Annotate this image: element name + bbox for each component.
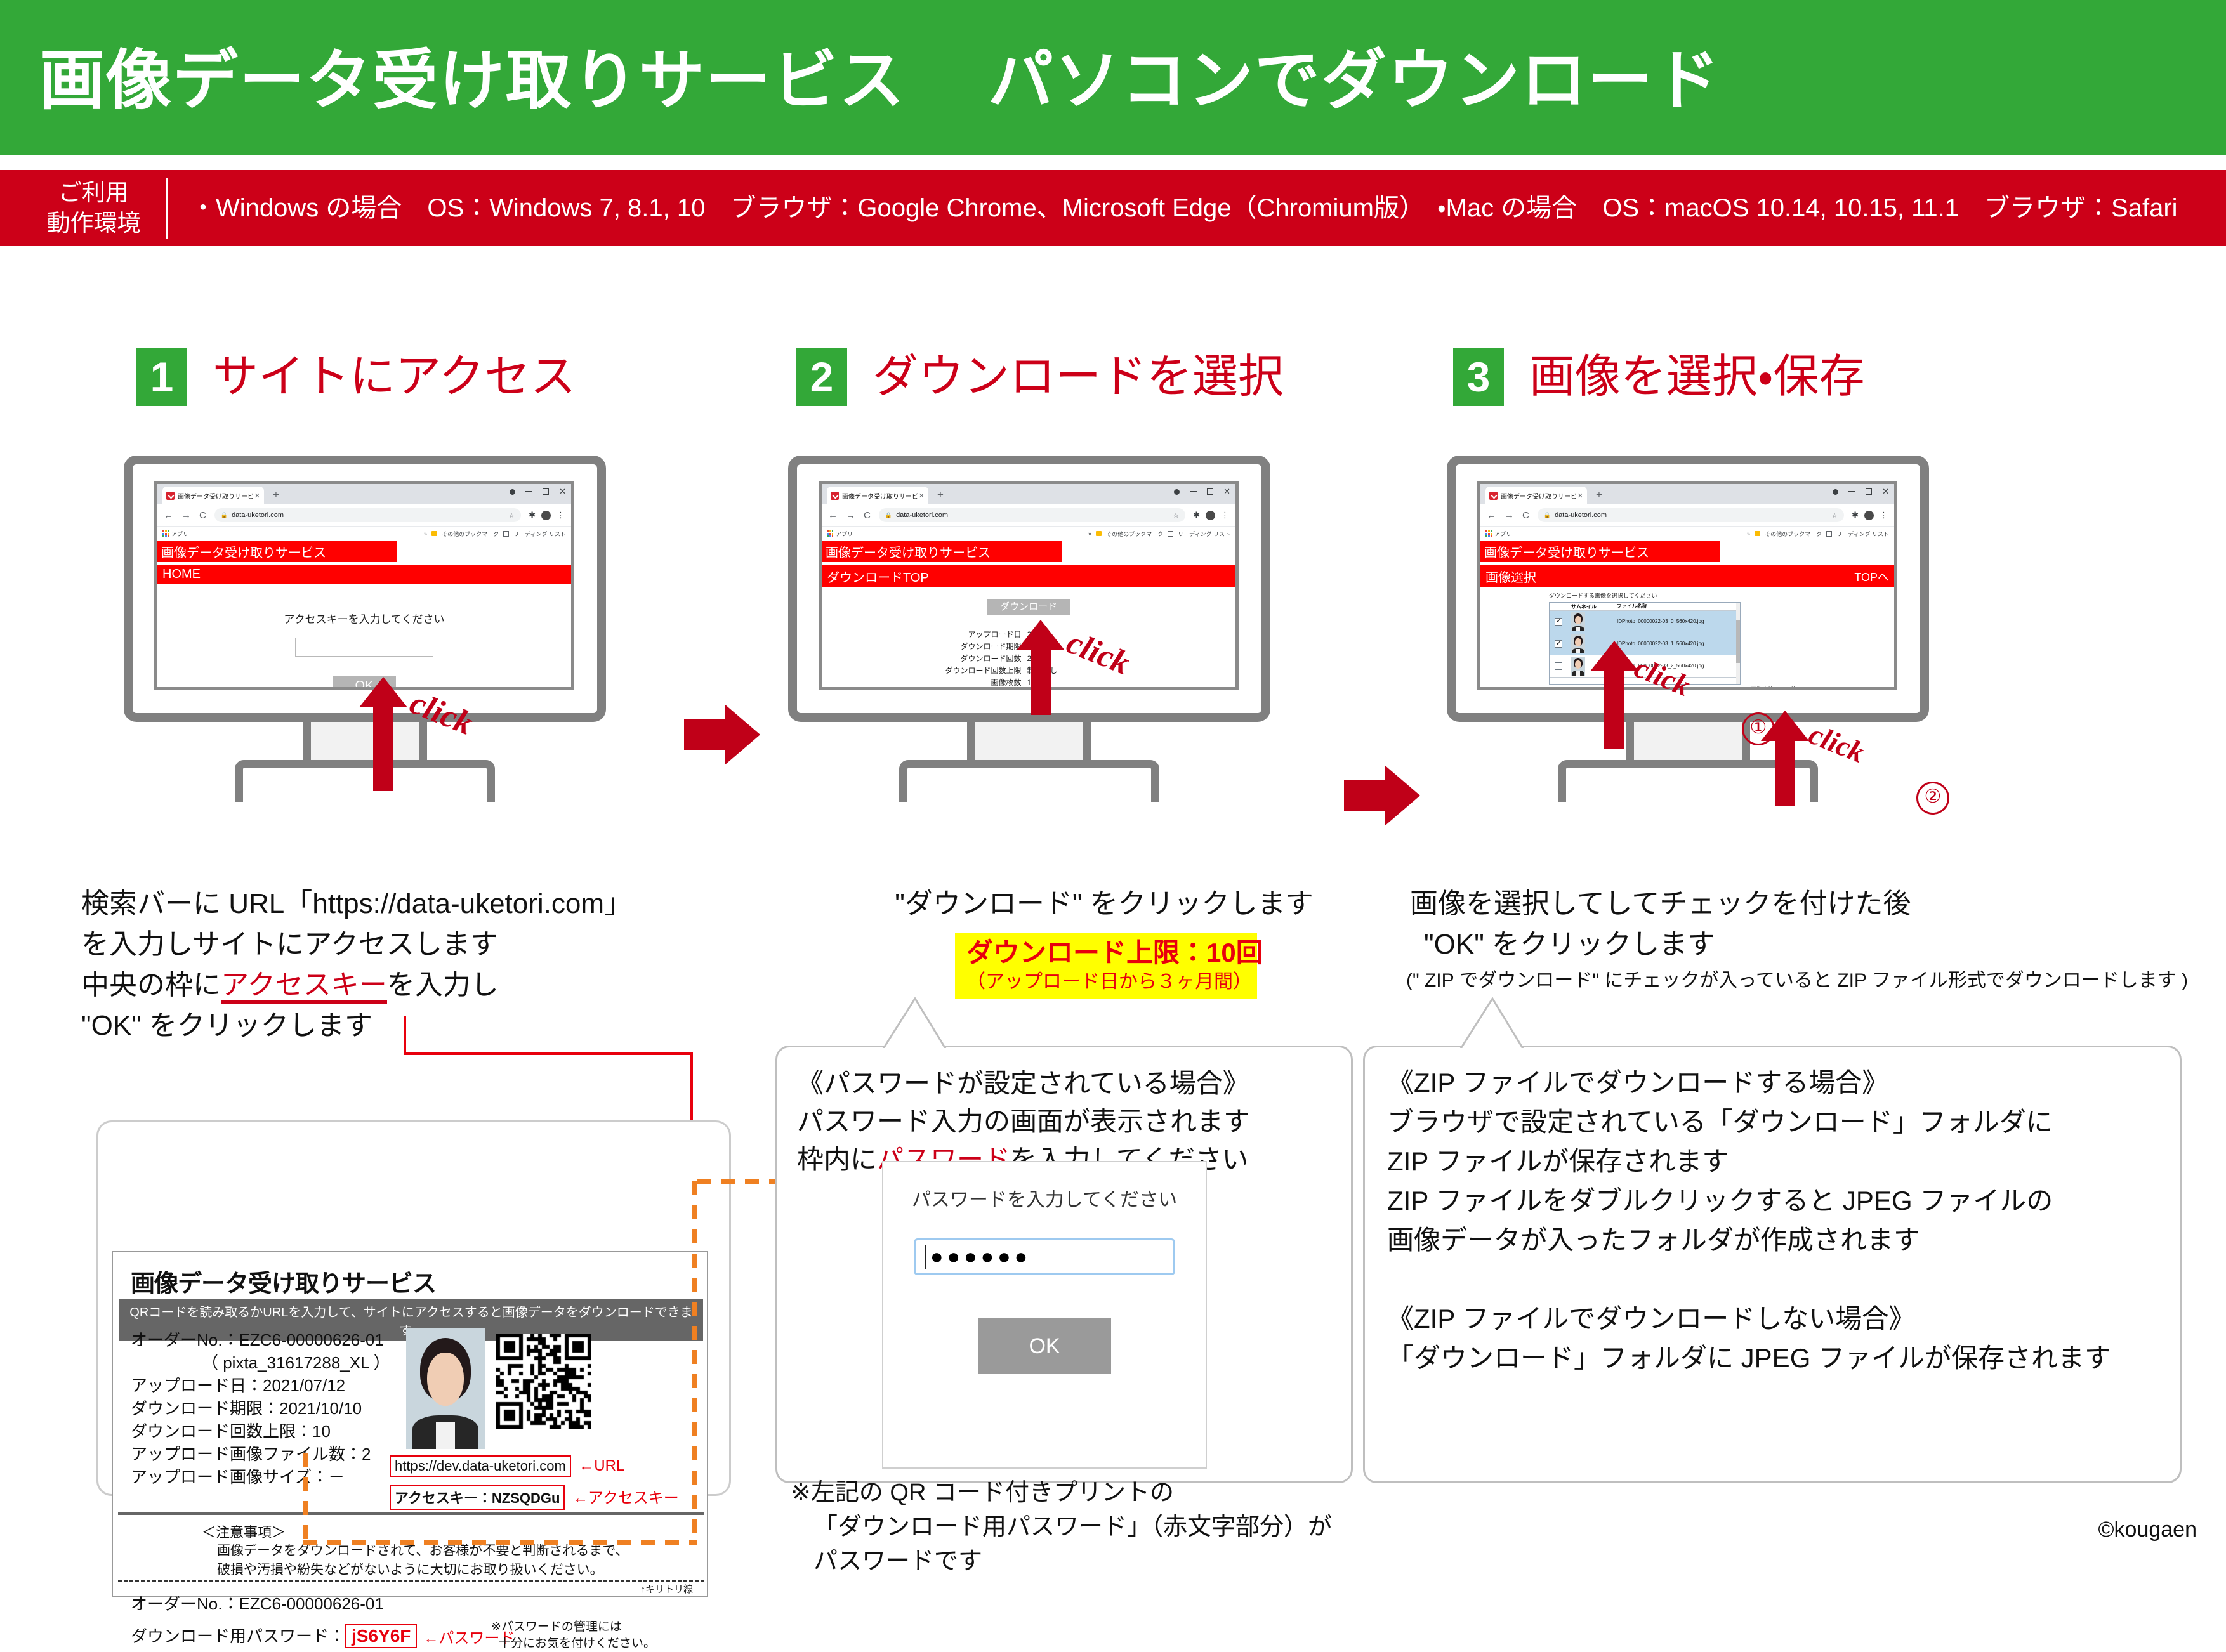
print-card-notice-line-2: 破損や汚損や紛失などがないように大切にお取り扱いください。: [202, 1561, 628, 1580]
info-label: ダウンロード期限: [945, 640, 1026, 652]
lock-icon: 🔒: [221, 512, 228, 519]
profile-dot-icon: [1174, 489, 1180, 495]
step-2-badge: 2: [796, 348, 847, 406]
download-limit-line-2: （アップロード日から３ヶ月間）: [966, 969, 1246, 995]
other-bookmarks-label[interactable]: その他のブックマーク: [1765, 530, 1822, 538]
download-favicon-icon: [166, 492, 175, 500]
print-card-key-arrow-label: ←アクセスキー: [573, 1490, 679, 1507]
back-icon[interactable]: ←: [164, 510, 173, 521]
bookmarks-overflow-icon[interactable]: »: [1088, 530, 1091, 537]
zip-callout-line-4: ZIP ファイルをダブルクリックすると JPEG ファイルの: [1387, 1181, 2187, 1221]
folder-icon: [1096, 531, 1102, 536]
browser-tab-bar: 画像データ受け取りサービス ✕ + ✕: [822, 484, 1235, 504]
column-header-thumbnail: サムネイル: [1567, 603, 1613, 610]
reload-icon[interactable]: C: [199, 510, 206, 521]
browser-window-step1: 画像データ受け取りサービス ✕ + ✕ ← → C 🔒 data-uketori…: [154, 481, 574, 690]
site-nav-label[interactable]: 画像選択: [1485, 567, 1536, 586]
bookmark-star-icon[interactable]: ☆: [1173, 511, 1179, 520]
orange-connector-v1: [303, 1453, 308, 1545]
password-dialog: パスワードを入力してください ●●●●●● OK: [882, 1161, 1207, 1469]
maximize-icon[interactable]: [1866, 488, 1872, 495]
step-2-monitor: 画像データ受け取りサービス ✕ + ✕ ← → C 🔒 data-uketori…: [788, 456, 1270, 779]
browser-tab[interactable]: 画像データ受け取りサービス ✕: [162, 487, 264, 504]
reload-icon[interactable]: C: [864, 510, 871, 521]
step-1-caption: 検索バーに URL「https://data-uketori.com」 を入力し…: [81, 884, 767, 1046]
apps-label[interactable]: アプリ: [836, 530, 853, 538]
row-checkbox-cell[interactable]: [1550, 633, 1567, 655]
minimize-icon[interactable]: [1848, 491, 1855, 492]
password-ok-button[interactable]: OK: [978, 1318, 1111, 1374]
bookmarks-bar: アプリ » その他のブックマーク リーディング リスト: [157, 527, 571, 541]
print-card-order-no-bottom: オーダーNo.：EZC6-00000626-01: [131, 1592, 384, 1615]
table-scrollbar[interactable]: [1736, 603, 1740, 684]
sample-portrait-photo: [406, 1328, 485, 1449]
print-card-password-line: ダウンロード用パスワード： jS6Y6F ←パスワード: [131, 1624, 515, 1648]
environment-label: ご利用 動作環境: [25, 178, 162, 239]
forward-icon[interactable]: →: [1505, 510, 1514, 521]
lock-icon: 🔒: [1544, 512, 1551, 519]
row-thumbnail-cell: [1567, 611, 1613, 633]
red-connector-h1: [404, 1052, 693, 1055]
bookmarks-bar: アプリ » その他のブックマーク リーディング リスト: [1480, 527, 1894, 541]
checkbox-icon[interactable]: [1555, 640, 1562, 648]
print-card-password-note-1: ※パスワードの管理には: [491, 1619, 655, 1636]
address-bar[interactable]: 🔒 data-uketori.com ☆: [1538, 508, 1844, 522]
minimize-icon[interactable]: [525, 491, 532, 492]
environment-label-line1: ご利用: [25, 178, 162, 208]
step-3-caption-note: (" ZIP でダウンロード" にチェックが入っていると ZIP ファイル形式で…: [1406, 964, 2212, 992]
print-card-password-label: ダウンロード用パスワード：: [131, 1625, 345, 1648]
address-bar[interactable]: 🔒 data-uketori.com ☆: [879, 508, 1185, 522]
environment-text: ・Windows の場合 OS：Windows 7, 8.1, 10 ブラウザ：…: [190, 170, 2178, 246]
step-3-click-badge-2: ②: [1916, 782, 1949, 815]
step-1-badge: 1: [136, 348, 187, 406]
profile-dot-icon: [510, 489, 515, 495]
row-checkbox-cell[interactable]: [1550, 611, 1567, 633]
kebab-menu-icon[interactable]: ⋮: [1880, 512, 1888, 518]
browser-window-step3: 画像データ受け取りサービス ✕ + ✕ ← → C 🔒 data-uketori…: [1477, 481, 1897, 690]
browser-url-bar: ← → C 🔒 data-uketori.com ☆ ✱ ⋮: [822, 504, 1235, 527]
password-footnote-line-2: 「ダウンロード用パスワード」（赤文字部分）が: [791, 1510, 1362, 1544]
access-key-input[interactable]: [295, 638, 433, 657]
bookmarks-bar: アプリ » その他のブックマーク リーディング リスト: [822, 527, 1235, 541]
avatar[interactable]: [1864, 511, 1874, 520]
new-tab-button[interactable]: +: [273, 489, 279, 500]
password-callout-tail: [876, 995, 971, 1052]
download-favicon-icon: [1489, 492, 1498, 500]
table-row[interactable]: IDPhoto_00000022-03_0_560x420.jpg: [1550, 611, 1740, 633]
thumbnail-image: [1571, 612, 1585, 631]
kebab-menu-icon[interactable]: ⋮: [1221, 512, 1229, 518]
step-1-header: 1 サイトにアクセス: [136, 348, 576, 406]
site-nav-label[interactable]: HOME: [162, 567, 201, 582]
apps-label[interactable]: アプリ: [1494, 530, 1511, 538]
print-card-key-line: アクセスキー：NZSQDGu ←アクセスキー: [390, 1485, 679, 1510]
step-3-header: 3 画像を選択・保存: [1453, 348, 1864, 406]
column-header-filename: ファイル名称: [1613, 603, 1740, 610]
back-icon[interactable]: ←: [828, 510, 838, 521]
step-transition-arrow-2: [1344, 765, 1420, 826]
print-card-url-arrow-label: ←URL: [579, 1457, 624, 1474]
print-card-url: https://dev.data-uketori.com: [390, 1455, 571, 1477]
zip-callout-line-3: ZIP ファイルが保存されます: [1387, 1142, 2187, 1181]
zip-callout-line-7: 《ZIP ファイルでダウンロードしない場合》: [1387, 1299, 2187, 1339]
apps-label[interactable]: アプリ: [171, 530, 188, 538]
reload-icon[interactable]: C: [1522, 510, 1529, 521]
step-3-caption-line-2: "OK" をクリックします: [1410, 924, 2171, 965]
copyright-notice: ©kougaen: [2098, 1518, 2197, 1542]
apps-grid-icon[interactable]: [162, 530, 169, 537]
close-icon[interactable]: ✕: [919, 492, 925, 500]
bookmarks-right: » その他のブックマーク リーディング リスト: [1088, 530, 1230, 538]
password-input-value: ●●●●●●: [930, 1245, 1031, 1269]
step-3-caption: 画像を選択してしてチェックを付けた後 "OK" をクリックします: [1410, 884, 2171, 965]
stat-label: 画像枚数: [1750, 686, 1773, 690]
download-limit-badge: ダウンロード上限：10回 （アップロード日から３ヶ月間）: [955, 933, 1257, 999]
qr-code: [496, 1334, 591, 1429]
zip-callout-text: 《ZIP ファイルでダウンロードする場合》 ブラウザで設定されている「ダウンロー…: [1387, 1063, 2187, 1378]
step-transition-arrow-1: [684, 704, 760, 765]
row-filename: IDPhoto_00000022-03_0_560x420.jpg: [1613, 611, 1740, 633]
text-caret: [925, 1245, 926, 1269]
maximize-icon[interactable]: [543, 488, 549, 495]
step-1-caption-line-4: "OK" をクリックします: [81, 1006, 767, 1046]
browser-tab-title: 画像データ受け取りサービス: [1501, 491, 1577, 501]
reading-list-icon: [503, 531, 509, 537]
bookmark-star-icon[interactable]: ☆: [508, 511, 515, 520]
step-3-title: 画像を選択・保存: [1529, 348, 1864, 406]
red-connector-v1: [404, 1016, 406, 1055]
step-1-caption-line-2: を入力しサイトにアクセスします: [81, 924, 767, 965]
other-bookmarks-label[interactable]: その他のブックマーク: [442, 530, 499, 538]
print-card-info: オーダーNo.：EZC6-00000626-01 （ pixta_3161728…: [131, 1328, 390, 1488]
site-nav-step1: HOME: [157, 565, 571, 584]
zip-callout-line-8: 「ダウンロード」フォルダに JPEG ファイルが保存されます: [1387, 1339, 2187, 1378]
browser-tab[interactable]: 画像データ受け取りサービス ✕: [1485, 487, 1587, 504]
address-bar-url: data-uketori.com: [896, 511, 948, 519]
print-card-title: 画像データ受け取りサービス: [131, 1264, 436, 1299]
monitor-neck: [967, 722, 1091, 763]
minimize-icon[interactable]: [1190, 491, 1197, 492]
window-controls: ✕: [510, 487, 566, 497]
password-callout-line-1: 《パスワードが設定されている場合》: [797, 1065, 1349, 1103]
other-bookmarks-label[interactable]: その他のブックマーク: [1106, 530, 1163, 538]
kebab-menu-icon[interactable]: ⋮: [556, 512, 565, 518]
step-1-caption-line-1: 検索バーに URL「https://data-uketori.com」: [81, 884, 767, 924]
checkbox-icon[interactable]: [1555, 603, 1562, 610]
print-card-dl-limit: ダウンロード回数上限：10: [131, 1420, 390, 1443]
reading-list-label[interactable]: リーディング リスト: [513, 530, 566, 538]
info-label: ダウンロード回数: [945, 652, 1026, 664]
print-card-url-line: https://dev.data-uketori.com ←URL: [390, 1455, 624, 1477]
apps-grid-icon[interactable]: [1485, 530, 1492, 537]
site-nav-step2: ダウンロードTOP: [822, 565, 1235, 587]
download-button[interactable]: ダウンロード: [987, 599, 1070, 615]
reading-list-label[interactable]: リーディング リスト: [1178, 530, 1230, 538]
extensions-icon[interactable]: ✱: [1852, 510, 1859, 520]
window-close-icon[interactable]: ✕: [1223, 487, 1230, 497]
window-controls: ✕: [1833, 487, 1889, 497]
password-input[interactable]: ●●●●●●: [914, 1238, 1175, 1275]
thumbnail-image: [1571, 657, 1585, 676]
page-title-sub: パソコンでダウンロード: [988, 44, 1721, 117]
avatar[interactable]: [1206, 511, 1215, 520]
print-card-expiry: ダウンロード期限：2021/10/10: [131, 1397, 390, 1420]
download-limit-line-1: ダウンロード上限：10回: [966, 936, 1246, 969]
step-2-header: 2 ダウンロードを選択: [796, 348, 1284, 406]
zip-callout-line-5: 画像データが入ったフォルダが作成されます: [1387, 1221, 2187, 1260]
address-bar[interactable]: 🔒 data-uketori.com ☆: [214, 508, 521, 522]
print-card-password-note-2: 十分にお気を付けください。: [491, 1636, 655, 1652]
thumbnail-image: [1571, 634, 1585, 653]
monitor-base: [899, 760, 1159, 802]
orange-connector-v2: [692, 1181, 697, 1545]
environment-label-line2: 動作環境: [25, 208, 162, 239]
forward-icon[interactable]: →: [846, 510, 855, 521]
download-favicon-icon: [831, 492, 839, 500]
reading-list-icon: [1168, 531, 1173, 537]
step-3-caption-line-1: 画像を選択してしてチェックを付けた後: [1410, 884, 2171, 924]
browser-tab-bar: 画像データ受け取りサービス ✕ + ✕: [1480, 484, 1894, 504]
step-3-badge: 3: [1453, 348, 1504, 406]
site-banner: 画像データ受け取りサービス: [822, 541, 1062, 562]
print-card-cut-label: ↑キリトリ線: [640, 1582, 693, 1596]
page-title: 画像データ受け取りサービスパソコンでダウンロード: [39, 33, 2133, 128]
bookmark-star-icon[interactable]: ☆: [1831, 511, 1838, 520]
bookmarks-overflow-icon[interactable]: »: [1747, 530, 1750, 537]
close-icon[interactable]: ✕: [254, 492, 260, 500]
site-banner: 画像データ受け取りサービス: [1480, 541, 1720, 562]
address-bar-url: data-uketori.com: [232, 511, 284, 519]
zip-callout-tail: [1453, 995, 1548, 1052]
step-3-monitor: 画像データ受け取りサービス ✕ + ✕ ← → C 🔒 data-uketori…: [1447, 456, 1929, 779]
reading-list-icon: [1826, 531, 1832, 537]
new-tab-button[interactable]: +: [1596, 489, 1602, 500]
access-key-highlight: アクセスキー: [221, 969, 387, 1004]
info-label: ダウンロード回数上限: [945, 664, 1026, 676]
print-card-access-key: アクセスキー：NZSQDGu: [390, 1485, 565, 1510]
bookmarks-overflow-icon[interactable]: »: [424, 530, 427, 537]
print-card-cut-line: [118, 1580, 704, 1582]
print-card-password-value: jS6Y6F: [345, 1624, 417, 1648]
back-icon[interactable]: ←: [1487, 510, 1496, 521]
zip-callout-spacer: [1387, 1260, 2187, 1299]
step-1-caption-line-3: 中央の枠にアクセスキーを入力し: [81, 965, 767, 1006]
password-dialog-label: パスワードを入力してください: [883, 1184, 1206, 1212]
reading-list-label[interactable]: リーディング リスト: [1836, 530, 1889, 538]
window-close-icon[interactable]: ✕: [559, 487, 566, 497]
image-select-prompt: ダウンロードする画像を選択してください: [1549, 591, 1894, 600]
info-label: アップロード日: [945, 628, 1026, 640]
table-header-row: サムネイル ファイル名称: [1550, 603, 1740, 611]
step-2-caption-line-1: "ダウンロード" をクリックします: [819, 884, 1390, 924]
stat-value: 11枚: [1775, 686, 1796, 690]
page-title-main: 画像データ受け取りサービス: [39, 44, 906, 117]
access-key-prompt: アクセスキーを入力してください: [157, 610, 571, 626]
print-card-notice: ＜注意事項＞ 画像データをダウンロードされて、お客様が不要と判断されるまで、 破…: [202, 1521, 628, 1580]
print-card: 画像データ受け取りサービス QRコードを読み取るかURLを入力して、サイトにアク…: [112, 1251, 708, 1597]
site-banner: 画像データ受け取りサービス: [157, 541, 397, 562]
step-2-title: ダウンロードを選択: [873, 348, 1284, 406]
browser-tab-title: 画像データ受け取りサービス: [178, 491, 254, 501]
orange-connector-h1: [303, 1540, 697, 1545]
browser-tab-title: 画像データ受け取りサービス: [842, 491, 919, 501]
print-card-password-note: ※パスワードの管理には 十分にお気を付けください。: [491, 1619, 655, 1652]
maximize-icon[interactable]: [1207, 488, 1213, 495]
window-controls: ✕: [1174, 487, 1230, 497]
zip-callout-line-2: ブラウザで設定されている「ダウンロード」フォルダに: [1387, 1103, 2187, 1142]
browser-url-bar: ← → C 🔒 data-uketori.com ☆ ✱ ⋮: [157, 504, 571, 527]
apps-grid-icon[interactable]: [827, 530, 833, 537]
step-1-title: サイトにアクセス: [213, 348, 576, 406]
print-card-upload-date: アップロード日：2021/07/12: [131, 1374, 390, 1397]
window-close-icon[interactable]: ✕: [1882, 487, 1889, 497]
password-callout-line-2: パスワード入力の画面が表示されます: [797, 1103, 1349, 1141]
checkbox-icon[interactable]: [1555, 618, 1562, 626]
info-label: 公開状況: [945, 688, 1026, 690]
profile-dot-icon: [1833, 489, 1838, 495]
select-all-checkbox-cell[interactable]: [1550, 603, 1567, 610]
row-checkbox-cell[interactable]: [1550, 655, 1567, 677]
bookmarks-right: » その他のブックマーク リーディング リスト: [424, 530, 566, 538]
browser-url-bar: ← → C 🔒 data-uketori.com ☆ ✱ ⋮: [1480, 504, 1894, 527]
print-card-image-size: アップロード画像サイズ：－: [131, 1465, 390, 1488]
top-link[interactable]: TOPへ: [1854, 568, 1889, 585]
browser-tab[interactable]: 画像データ受け取りサービス ✕: [827, 487, 928, 504]
checkbox-icon[interactable]: [1555, 662, 1562, 670]
print-card-order-no: オーダーNo.：EZC6-00000626-01: [131, 1328, 390, 1351]
site-nav-step3: 画像選択 TOPへ: [1480, 565, 1894, 587]
info-label: 画像枚数: [945, 676, 1026, 688]
folder-icon: [431, 531, 437, 536]
environment-divider: [166, 178, 168, 239]
print-card-order-alt: （ pixta_31617288_XL ）: [131, 1351, 390, 1374]
lock-icon: 🔒: [885, 512, 892, 519]
bookmarks-right: » その他のブックマーク リーディング リスト: [1747, 530, 1889, 538]
extensions-icon[interactable]: ✱: [529, 510, 536, 520]
zip-callout-line-1: 《ZIP ファイルでダウンロードする場合》: [1387, 1063, 2187, 1103]
step-1-click-arrow: [359, 677, 423, 791]
folder-icon: [1755, 531, 1760, 536]
browser-tab-bar: 画像データ受け取りサービス ✕ + ✕: [157, 484, 571, 504]
close-icon[interactable]: ✕: [1577, 492, 1583, 500]
print-card-divider: [118, 1512, 704, 1515]
avatar[interactable]: [541, 511, 551, 520]
step-2-caption: "ダウンロード" をクリックします: [819, 884, 1390, 924]
print-card-notice-title: ＜注意事項＞: [202, 1521, 628, 1542]
site-nav-label[interactable]: ダウンロードTOP: [827, 567, 929, 586]
print-card-file-count: アップロード画像ファイル数：2: [131, 1443, 390, 1465]
new-tab-button[interactable]: +: [937, 489, 944, 500]
password-footnote: ※左記の QR コード付きプリントの 「ダウンロード用パスワード」（赤文字部分）…: [791, 1476, 1362, 1578]
extensions-icon[interactable]: ✱: [1193, 510, 1200, 520]
forward-icon[interactable]: →: [181, 510, 191, 521]
address-bar-url: data-uketori.com: [1555, 511, 1607, 519]
password-footnote-line-1: ※左記の QR コード付きプリントの: [791, 1476, 1362, 1510]
step-3-click-number-2: ②: [1916, 782, 1949, 815]
